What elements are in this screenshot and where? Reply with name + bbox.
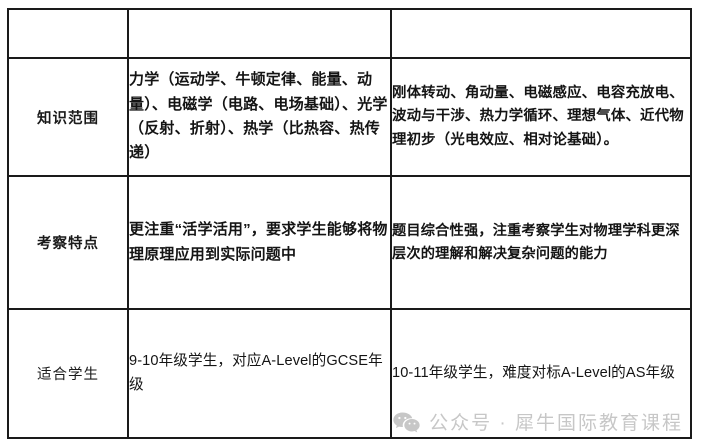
table-body: 知识范围 力学（运动学、牛顿定律、能量、动量）、电磁学（电路、电场基础）、光学（… bbox=[8, 58, 691, 438]
row-label-exam-features: 考察特点 bbox=[8, 176, 128, 309]
column-header-spc: SPC bbox=[391, 9, 691, 58]
table-row: 考察特点 更注重“活学活用”，要求学生能够将物理原理应用到实际问题中 题目综合性… bbox=[8, 176, 691, 309]
cell-suitable-students-ipc: 9-10年级学生，对应A-Level的GCSE年级 bbox=[128, 309, 391, 438]
cell-knowledge-scope-spc: 刚体转动、角动量、电磁感应、电容充放电、波动与干涉、热力学循环、理想气体、近代物… bbox=[391, 58, 691, 176]
row-label-knowledge-scope: 知识范围 bbox=[8, 58, 128, 176]
cell-exam-features-ipc: 更注重“活学活用”，要求学生能够将物理原理应用到实际问题中 bbox=[128, 176, 391, 309]
row-label-suitable-students: 适合学生 bbox=[8, 309, 128, 438]
cell-suitable-students-spc: 10-11年级学生，难度对标A-Level的AS年级 bbox=[391, 309, 691, 438]
cell-knowledge-scope-ipc: 力学（运动学、牛顿定律、能量、动量）、电磁学（电路、电场基础）、光学（反射、折射… bbox=[128, 58, 391, 176]
column-header-ipc: IPC bbox=[128, 9, 391, 58]
cell-exam-features-spc: 题目综合性强，注重考察学生对物理学科更深层次的理解和解决复杂问题的能力 bbox=[391, 176, 691, 309]
table-row: 适合学生 9-10年级学生，对应A-Level的GCSE年级 10-11年级学生… bbox=[8, 309, 691, 438]
column-header-label: 对比 bbox=[8, 9, 128, 58]
table-row: 知识范围 力学（运动学、牛顿定律、能量、动量）、电磁学（电路、电场基础）、光学（… bbox=[8, 58, 691, 176]
table-header-row: 对比 IPC SPC bbox=[8, 9, 691, 58]
comparison-table: 对比 IPC SPC 知识范围 力学（运动学、牛顿定律、能量、动量）、电磁学（电… bbox=[7, 8, 692, 439]
table-header: 对比 IPC SPC bbox=[8, 9, 691, 58]
